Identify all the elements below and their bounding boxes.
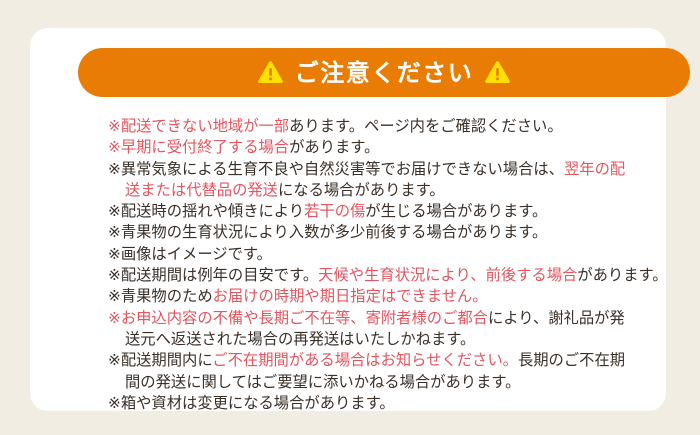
notice-bullet-mark: ※ [108,223,121,241]
notice-item: ※配送期間内にご不在期間がある場合はお知らせください。長期のご不在期間の発送に関… [108,350,678,393]
notice-text-segment: 配送期間内に [121,351,212,369]
notice-text-segment: 配送期間は例年の目安です。 [121,266,318,284]
notice-text-segment: 配送できない地域が一部 [121,117,289,135]
notice-card: ご注意ください ※配送できない地域が一部あります。ページ内をご確認ください。※早… [30,28,666,411]
notice-item: ※青果物のためお届けの時期や期日指定はできません。 [108,286,678,307]
notice-text-segment: 青果物のため [121,287,213,305]
notice-bullet-mark: ※ [108,351,121,369]
notice-text-segment: 箱や資材は変更になる場合があります。 [121,394,395,412]
notice-text-segment: 送元へ返送された場合の再発送はいたしかねます。 [125,330,475,348]
notice-text-segment: 画像はイメージです。 [121,245,272,263]
notice-item: ※お申込内容の不備や長期ご不在等、寄附者様のご都合により、謝礼品が発送元へ返送さ… [108,308,678,351]
notice-bullet-mark: ※ [108,138,121,156]
notice-bullet-mark: ※ [108,160,121,178]
notice-item: ※異常気象による生育不良や自然災害等でお届けできない場合は、翌年の配送または代替… [108,159,678,202]
notice-continuation-line: 送または代替品の発送になる場合があります。 [108,180,678,201]
warning-triangle-icon [257,60,284,85]
notice-text-segment: 送または代替品の発送 [125,181,278,199]
notice-item: ※青果物の生育状況により入数が多少前後する場合があります。 [108,222,678,243]
notice-text-segment: 間の発送に関してはご要望に添いかねる場合があります。 [125,373,520,391]
notice-item: ※配送時の揺れや傾きにより若干の傷が生じる場合があります。 [108,201,678,222]
notice-bullet-mark: ※ [108,202,121,220]
notice-item: ※配送できない地域が一部あります。ページ内をご確認ください。 [108,116,678,137]
page-title: ご注意ください [295,61,474,85]
notice-header-banner: ご注意ください [78,48,690,97]
notice-text-segment: ご不在期間がある場合はお知らせください。 [212,351,518,369]
notice-bullet-mark: ※ [108,245,121,263]
notice-text-segment: 若干の傷 [304,202,365,220]
notice-text-segment: お申込内容の不備や長期ご不在等、寄附者様のご都合 [121,309,488,327]
notice-continuation-line: 送元へ返送された場合の再発送はいたしかねます。 [108,329,678,350]
notice-bullet-mark: ※ [108,117,121,135]
notice-continuation-line: 間の発送に関してはご要望に添いかねる場合があります。 [108,372,678,393]
warning-triangle-icon [484,60,511,85]
notice-item: ※箱や資材は変更になる場合があります。 [108,393,678,414]
notice-text-segment: により、謝礼品が発 [488,309,625,327]
notice-text-segment: があります。 [577,266,667,284]
notice-text-segment: になる場合があります。 [278,181,445,199]
notice-item: ※配送期間は例年の目安です。天候や生育状況により、前後する場合があります。 [108,265,678,286]
notice-item: ※早期に受付終了する場合があります。 [108,137,678,158]
notice-text-segment: 翌年の配 [564,160,625,178]
notice-item: ※画像はイメージです。 [108,244,678,265]
notice-text-segment: 異常気象による生育不良や自然災害等でお届けできない場合は、 [121,160,564,178]
notice-text-segment: 長期のご不在期 [518,351,625,369]
notice-bullet-mark: ※ [108,266,121,284]
notice-text-segment: 青果物の生育状況により入数が多少前後する場合があります。 [121,223,547,241]
notice-text-segment: お届けの時期や期日指定はできません。 [213,287,488,305]
notice-text-segment: 配送時の揺れや傾きにより [121,202,304,220]
notice-list: ※配送できない地域が一部あります。ページ内をご確認ください。※早期に受付終了する… [108,116,678,414]
notice-text-segment: 天候や生育状況により、前後する場合 [318,266,577,284]
notice-text-segment: 早期に受付終了する場合 [121,138,289,156]
notice-bullet-mark: ※ [108,287,121,305]
notice-text-segment: があります。 [289,138,379,156]
notice-text-segment: あります。ページ内をご確認ください。 [289,117,563,135]
notice-bullet-mark: ※ [108,309,121,327]
notice-bullet-mark: ※ [108,394,121,412]
notice-text-segment: が生じる場合があります。 [365,202,547,220]
